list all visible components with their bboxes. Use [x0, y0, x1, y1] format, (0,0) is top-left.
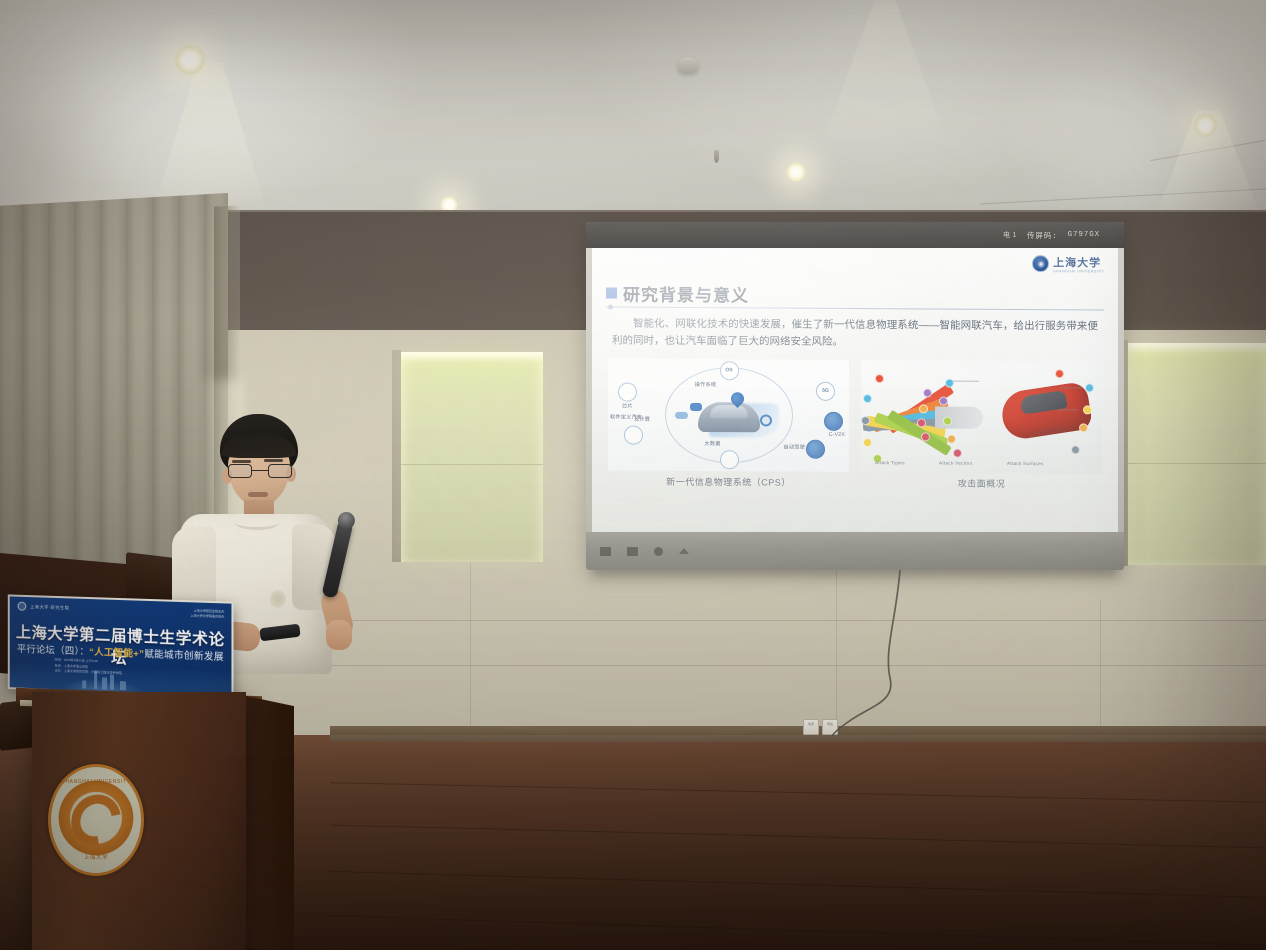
university-crest-icon [18, 602, 27, 611]
microphone-head [336, 510, 356, 530]
presenter-eyebrow [232, 460, 251, 463]
banner-tower [82, 680, 86, 688]
presenter-eyebrow [264, 459, 283, 462]
banner-tower [120, 681, 126, 690]
podium-banner: 上海大学 研究生院 上海大学研究生院主办 上海大学文学院承办协办 上海大学第二届… [8, 594, 234, 699]
banner-header: 上海大学 研究生院 [18, 602, 70, 613]
glasses-icon [228, 464, 292, 479]
banner-right-block: 上海大学研究生院主办 上海大学文学院承办协办 [191, 608, 225, 618]
banner-right-line-2: 上海大学文学院承办协办 [191, 613, 225, 619]
presentation-photo-scene: 电 1 传屏码: G797GX 上海大学 SHANGHAI UNIVERSITY… [0, 0, 1266, 950]
banner-org-line: 上海大学 研究生院 [30, 604, 69, 611]
presenter-collar [234, 514, 280, 530]
seal-text-bottom: 上海大学 [51, 853, 141, 861]
podium: 上海大学 研究生院 上海大学研究生院主办 上海大学文学院承办协办 上海大学第二届… [0, 596, 362, 950]
glasses-lens-left [228, 464, 252, 478]
glasses-lens-right [268, 464, 292, 478]
seal-letter-s [61, 785, 130, 855]
banner-subtitle-highlight: “人工智能+” [89, 647, 144, 660]
banner-tower [102, 677, 107, 689]
presenter-mouth [248, 492, 268, 497]
banner-tower [110, 675, 114, 690]
seal-text-top: SHANGHAI UNIVERSITY [51, 779, 141, 785]
podium-university-seal: SHANGHAI UNIVERSITY 上海大学 [48, 764, 144, 876]
glasses-bridge [252, 470, 268, 471]
banner-tower [94, 671, 97, 689]
